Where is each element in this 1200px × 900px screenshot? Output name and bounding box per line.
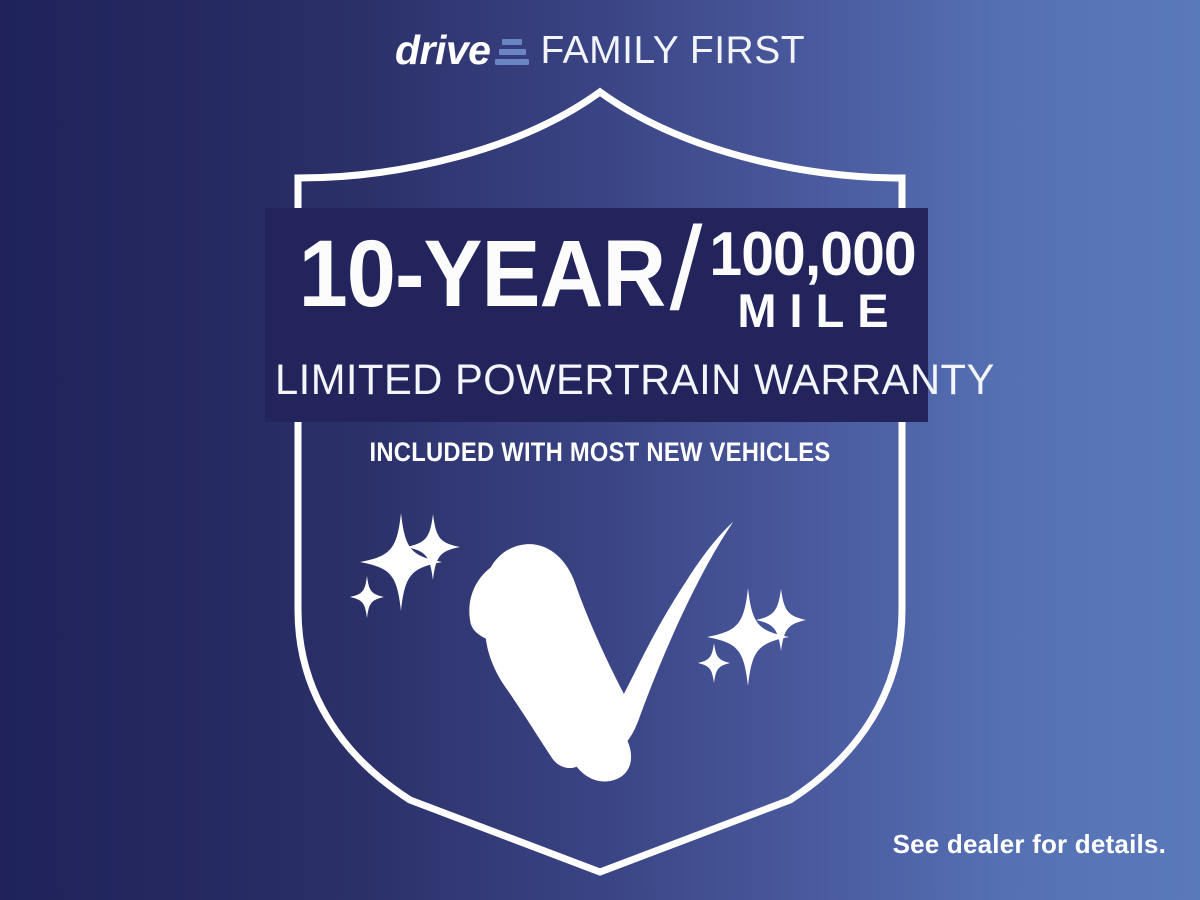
sparkle-star-icon [350, 513, 460, 618]
disclaimer-text: See dealer for details. [893, 829, 1166, 860]
checkmark-and-sparkles [0, 0, 1200, 900]
checkmark-icon [469, 522, 733, 781]
sparkle-star-icon [698, 588, 806, 686]
warranty-promo-graphic: drive FAMILY FIRST 10-YEAR / 100,000 MIL… [0, 0, 1200, 900]
